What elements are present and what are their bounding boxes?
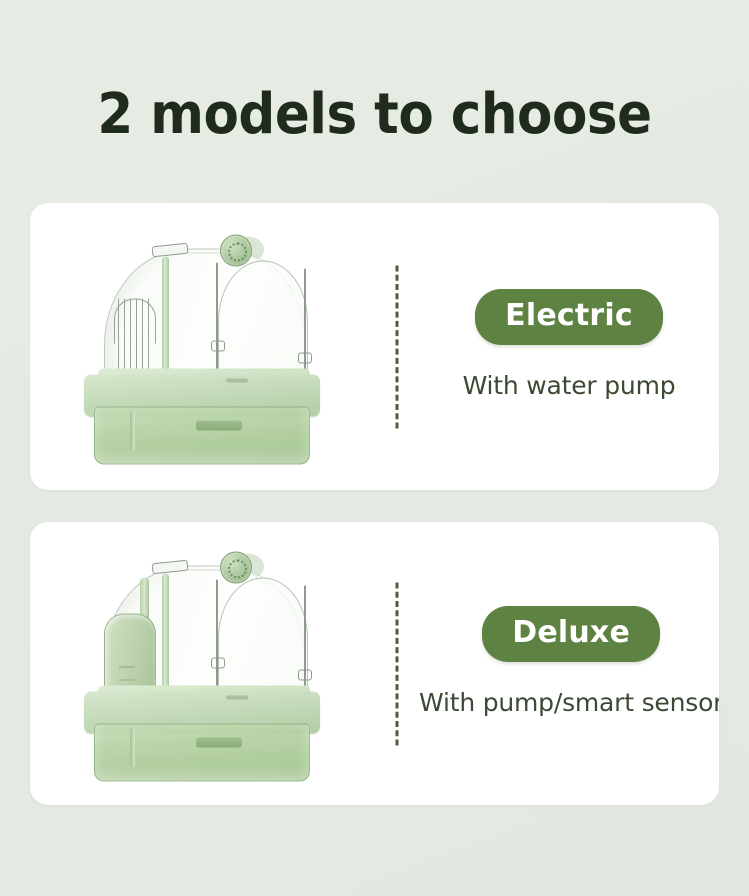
divider-pane-electric [375,203,419,490]
door-wire-left [216,262,218,384]
pet-bath-dome-deluxe-icon [78,551,328,776]
model-info-deluxe: Deluxe With pump/smart sensor [419,522,719,805]
grille-bar [148,298,150,370]
divider-pane-deluxe [375,522,419,805]
wire-grille [114,298,154,370]
tray-slot [226,695,248,699]
page-title: 2 models to choose [30,80,719,150]
subtitle-electric: With water pump [463,371,676,400]
door-clip-left [211,657,225,668]
base-handle [196,737,242,747]
model-card-electric[interactable]: Electric With water pump [30,203,719,490]
dial-knob-icon [220,551,252,583]
grille-bar [136,298,138,370]
card-inner: Deluxe With pump/smart sensor [30,522,719,805]
card-inner: Electric With water pump [30,203,719,490]
tray-slot [226,378,248,382]
pet-bath-dome-electric-icon [78,234,328,459]
base-drawer [94,723,310,781]
door-clip-left [211,340,225,351]
product-image-deluxe [30,522,375,805]
base-handle [196,420,242,430]
product-image-electric [30,203,375,490]
door-wire-left [216,579,218,701]
dial-knob-icon [220,234,252,266]
model-info-electric: Electric With water pump [419,203,719,490]
door-clip-right [298,352,312,363]
base-pipe [130,410,135,450]
door-wire-right [304,268,306,384]
dashed-divider [396,582,399,745]
base-pipe [130,727,135,767]
badge-deluxe[interactable]: Deluxe [482,606,660,662]
model-card-deluxe[interactable]: Deluxe With pump/smart sensor [30,522,719,805]
grille-bar [142,298,144,370]
grille-bar [124,298,126,370]
door-wire-right [304,585,306,701]
base-drawer [94,406,310,464]
door-clip-right [298,669,312,680]
subtitle-deluxe: With pump/smart sensor [419,688,719,717]
promo-page: 2 models to choose [0,0,749,896]
dome-ridge [162,256,169,384]
dashed-divider [396,265,399,428]
grille-bar [118,298,120,370]
grille-hoop [114,298,156,343]
grille-bar [130,298,132,370]
dome-ridge [162,573,169,701]
badge-electric[interactable]: Electric [475,289,663,345]
